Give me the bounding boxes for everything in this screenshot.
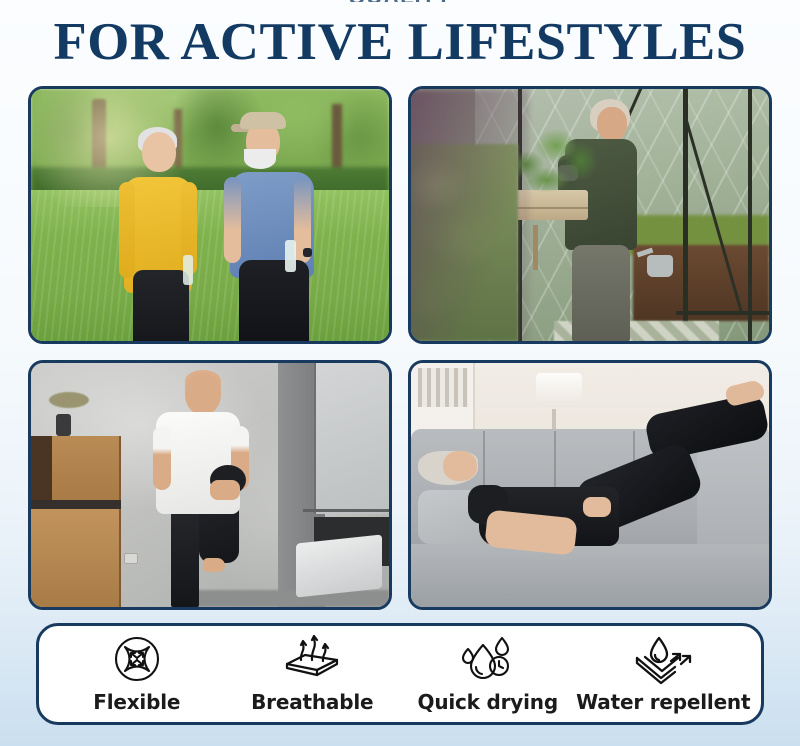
photo-walking-couple <box>28 86 392 344</box>
photo-gardening-woman <box>408 86 772 344</box>
feature-water-repellent: Water repellent <box>576 634 752 714</box>
photo-stretching-man-scene <box>31 363 389 607</box>
feature-water-repellent-label: Water repellent <box>576 690 750 714</box>
breathable-icon <box>281 634 343 686</box>
photo-relaxing-woman <box>408 360 772 610</box>
feature-flexible-label: Flexible <box>93 690 180 714</box>
feature-breathable: Breathable <box>225 634 401 714</box>
photo-walking-couple-scene <box>31 89 389 341</box>
water-repellent-icon <box>631 634 695 686</box>
photo-grid <box>28 86 772 610</box>
feature-flexible: Flexible <box>49 634 225 714</box>
feature-breathable-label: Breathable <box>251 690 373 714</box>
photo-gardening-woman-scene <box>411 89 769 341</box>
quick-drying-icon <box>459 634 517 686</box>
feature-bar: Flexible Breathable <box>36 623 764 725</box>
flexible-icon <box>109 634 165 686</box>
feature-quick-drying-label: Quick drying <box>418 690 558 714</box>
photo-stretching-man <box>28 360 392 610</box>
feature-quick-drying: Quick drying <box>400 634 576 714</box>
photo-relaxing-woman-scene <box>411 363 769 607</box>
page-title: FOR ACTIVE LIFESTYLES <box>0 0 800 79</box>
